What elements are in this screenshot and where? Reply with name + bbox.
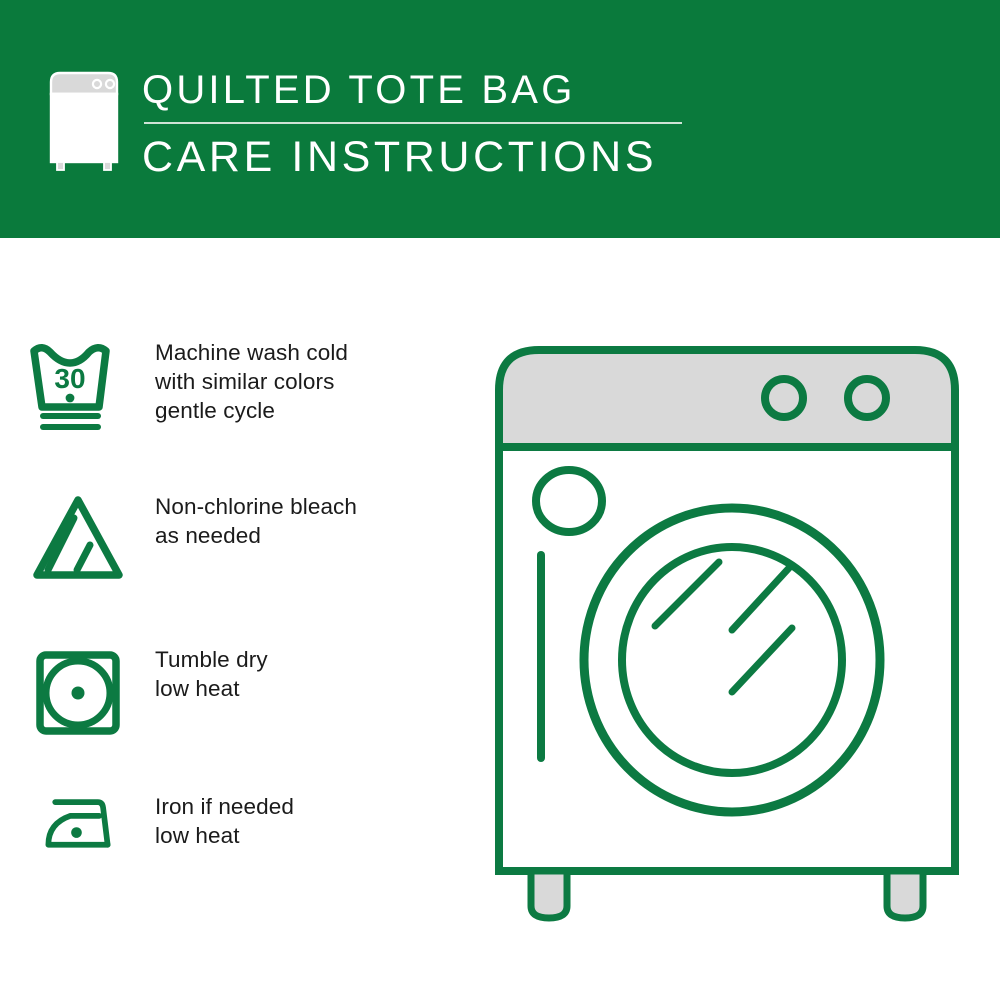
tumble-dry-low-icon — [0, 643, 155, 743]
care-instruction-row: Iron if needed low heat — [0, 790, 470, 866]
non-chlorine-bleach-triangle-icon — [0, 490, 155, 590]
header-text-block: QUILTED TOTE BAG CARE INSTRUCTIONS — [142, 64, 742, 184]
machine-foot-left — [531, 871, 567, 918]
care-instruction-row: Non-chlorine bleach as needed — [0, 490, 470, 590]
page-title-product: QUILTED TOTE BAG — [142, 64, 742, 116]
care-instruction-text: Iron if needed low heat — [155, 790, 294, 850]
care-instruction-row: 30 Machine wash cold with similar colors… — [0, 336, 470, 436]
page-title-care-instructions: CARE INSTRUCTIONS — [142, 130, 742, 184]
header-divider — [144, 122, 682, 124]
wash-temperature-value: 30 — [54, 363, 85, 394]
machine-foot-right — [887, 871, 923, 918]
care-instruction-row: Tumble dry low heat — [0, 643, 470, 743]
iron-low-heat-icon — [0, 790, 155, 866]
care-instruction-text: Non-chlorine bleach as needed — [155, 490, 357, 550]
care-instruction-text: Machine wash cold with similar colors ge… — [155, 336, 348, 425]
washing-machine-illustration — [487, 330, 967, 930]
care-instructions-list: 30 Machine wash cold with similar colors… — [0, 238, 470, 1000]
care-instruction-text: Tumble dry low heat — [155, 643, 268, 703]
wash-tub-30-icon: 30 — [0, 336, 155, 436]
washing-machine-icon — [45, 68, 123, 172]
header-banner: QUILTED TOTE BAG CARE INSTRUCTIONS — [0, 0, 1000, 238]
